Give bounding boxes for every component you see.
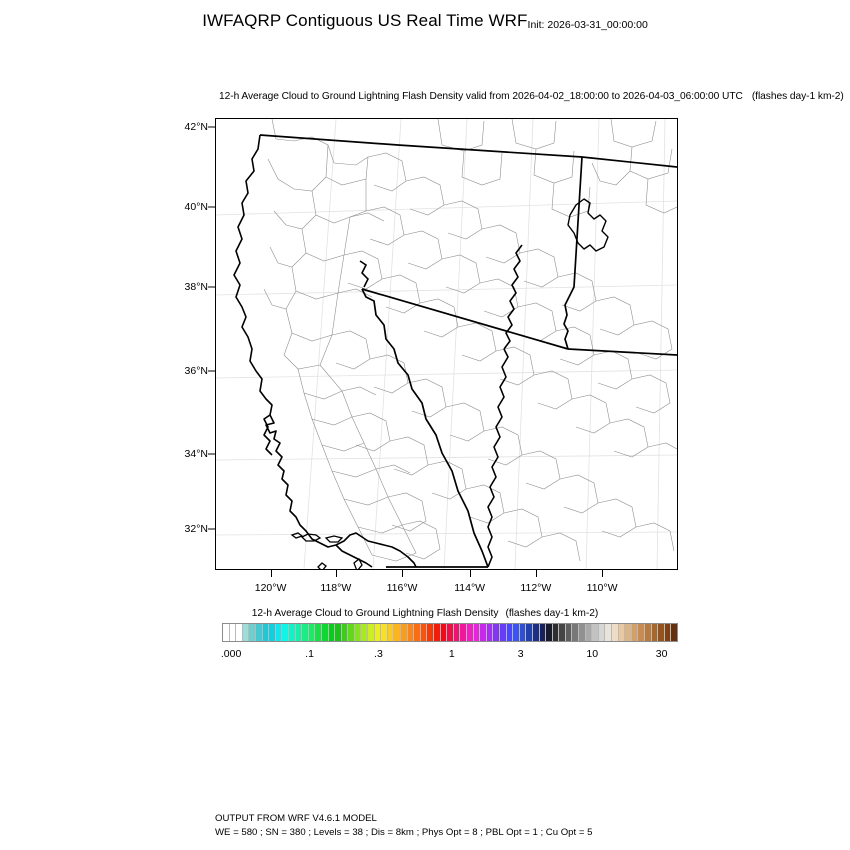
colorbar-tick-label: 30 (656, 648, 668, 660)
colorbar-segment (289, 624, 296, 641)
x-tick-label: 120°W (255, 582, 287, 594)
y-tick-label: 42°N (185, 121, 208, 133)
coastline (234, 135, 416, 567)
y-tick-label: 38°N (185, 281, 208, 293)
colorbar-segment (625, 624, 632, 641)
colorbar-segment (296, 624, 303, 641)
colorbar-segment (546, 624, 553, 641)
page-title: IWFAQRP Contiguous US Real Time WRFInit:… (0, 11, 850, 31)
colorbar-segment (592, 624, 599, 641)
colorbar-segment (348, 624, 355, 641)
colorbar-tick-labels: .000.1.3131030 (222, 648, 678, 664)
colorbar-segment (394, 624, 401, 641)
colorbar-segment (513, 624, 520, 641)
colorbar-segment (533, 624, 540, 641)
colorbar-segment (480, 624, 487, 641)
colorbar-segment (408, 624, 415, 641)
map-geography (216, 119, 677, 569)
y-tick-mark (208, 207, 215, 208)
colorbar-segment (638, 624, 645, 641)
colorbar-tick-label: .1 (305, 648, 314, 660)
colorbar-segment (559, 624, 566, 641)
y-tick-mark (208, 127, 215, 128)
y-tick-mark (208, 287, 215, 288)
colorbar-segment (263, 624, 270, 641)
colorbar-segment (388, 624, 395, 641)
x-tick-mark (602, 570, 603, 577)
plot-subtitle-text: 12-h Average Cloud to Ground Lightning F… (219, 91, 743, 102)
colorbar-segment (500, 624, 507, 641)
colorbar-segment (526, 624, 533, 641)
colorbar-segment (355, 624, 362, 641)
page-title-text: IWFAQRP Contiguous US Real Time WRF (202, 11, 527, 30)
x-tick-mark (271, 570, 272, 577)
plot-subtitle: 12-h Average Cloud to Ground Lightning F… (219, 91, 844, 102)
x-tick-label: 116°W (387, 582, 418, 594)
colorbar-segment (493, 624, 500, 641)
colorbar-segment (276, 624, 283, 641)
y-tick-label: 34°N (185, 448, 208, 460)
x-tick-label: 110°W (587, 582, 618, 594)
latitude-axis: 42°N 40°N 38°N 36°N 34°N 32°N (150, 118, 208, 570)
colorbar-segment (586, 624, 593, 641)
colorbar-segment (315, 624, 322, 641)
colorbar-segment (474, 624, 481, 641)
longitude-axis: 120°W 118°W 116°W 114°W 112°W 110°W (215, 570, 678, 604)
colorbar-tick-label: .000 (221, 648, 241, 660)
colorbar-segment (302, 624, 309, 641)
colorbar-segment (652, 624, 659, 641)
plot-subtitle-units: (flashes day-1 km-2) (743, 91, 844, 102)
colorbar-segment (454, 624, 461, 641)
colorbar-segment (467, 624, 474, 641)
colorbar-title: 12-h Average Cloud to Ground Lightning F… (0, 608, 850, 619)
nevada-utah-arizona-junction (360, 261, 368, 287)
colorbar-segment (427, 624, 434, 641)
x-tick-label: 118°W (320, 582, 351, 594)
colorbar-segment (671, 624, 677, 641)
x-tick-mark (536, 570, 537, 577)
colorbar-segment (342, 624, 349, 641)
map-plot-area[interactable] (215, 118, 678, 570)
footer-line-2: WE = 580 ; SN = 380 ; Levels = 38 ; Dis … (215, 826, 592, 840)
colorbar-segment (329, 624, 336, 641)
colorbar-segment (632, 624, 639, 641)
colorbar-segment (619, 624, 626, 641)
model-output-footer: OUTPUT FROM WRF V4.6.1 MODEL WE = 580 ; … (215, 812, 592, 839)
colorbar-segment (249, 624, 256, 641)
y-tick-mark (208, 528, 215, 529)
colorbar-segment (460, 624, 467, 641)
colorbar-tick-label: .3 (374, 648, 383, 660)
colorbar-segment (665, 624, 672, 641)
great-salt-lake (568, 199, 608, 251)
colorbar-segment (645, 624, 652, 641)
state-boundaries (260, 135, 677, 567)
colorbar-segment (421, 624, 428, 641)
x-tick-label: 114°W (454, 582, 485, 594)
colorbar-segment (487, 624, 494, 641)
colorbar-segment (230, 624, 237, 641)
colorbar-segment (599, 624, 606, 641)
colorbar-tick-label: 3 (518, 648, 524, 660)
colorbar-segment (540, 624, 547, 641)
colorbar-segment (309, 624, 316, 641)
colorbar-segment (368, 624, 375, 641)
colorbar-units: (flashes day-1 km-2) (498, 608, 598, 619)
colorbar-segment (658, 624, 665, 641)
colorbar-segment (441, 624, 448, 641)
colorbar-segment (605, 624, 612, 641)
x-tick-label: 112°W (520, 582, 551, 594)
colorbar-segment (612, 624, 619, 641)
colorbar-segment (236, 624, 243, 641)
colorbar-segment (243, 624, 250, 641)
colorbar-segment (375, 624, 382, 641)
colorbar-segment (507, 624, 514, 641)
channel-islands (292, 533, 362, 569)
x-tick-mark (470, 570, 471, 577)
footer-line-1: OUTPUT FROM WRF V4.6.1 MODEL (215, 812, 592, 826)
colorbar-segment (414, 624, 421, 641)
model-init-time: Init: 2026-03-31_00:00:00 (528, 19, 648, 31)
colorbar-segment (361, 624, 368, 641)
county-boundaries (264, 119, 677, 561)
x-tick-mark (402, 570, 403, 577)
colorbar-segment (335, 624, 342, 641)
colorbar-tick-label: 10 (586, 648, 598, 660)
colorbar-segment (269, 624, 276, 641)
colorbar-title-text: 12-h Average Cloud to Ground Lightning F… (252, 608, 499, 619)
colorbar-tick-label: 1 (449, 648, 455, 660)
y-tick-mark (208, 453, 215, 454)
colorbar-segment (223, 624, 230, 641)
colorbar-segment (520, 624, 527, 641)
colorbar-segment (401, 624, 408, 641)
y-tick-label: 36°N (185, 365, 208, 377)
colorbar[interactable] (222, 623, 678, 642)
colorbar-segment (566, 624, 573, 641)
colorbar-segment (572, 624, 579, 641)
colorbar-segment (434, 624, 441, 641)
colorbar-segment (381, 624, 388, 641)
x-tick-mark (336, 570, 337, 577)
colorbar-segment (256, 624, 263, 641)
y-tick-label: 32°N (185, 523, 208, 535)
graticule-gridlines (216, 119, 677, 569)
y-tick-mark (208, 371, 215, 372)
colorbar-segment (447, 624, 454, 641)
colorbar-segment (322, 624, 329, 641)
colorbar-segment (579, 624, 586, 641)
colorbar-segment (553, 624, 560, 641)
colorbar-segment (282, 624, 289, 641)
y-tick-label: 40°N (185, 201, 208, 213)
